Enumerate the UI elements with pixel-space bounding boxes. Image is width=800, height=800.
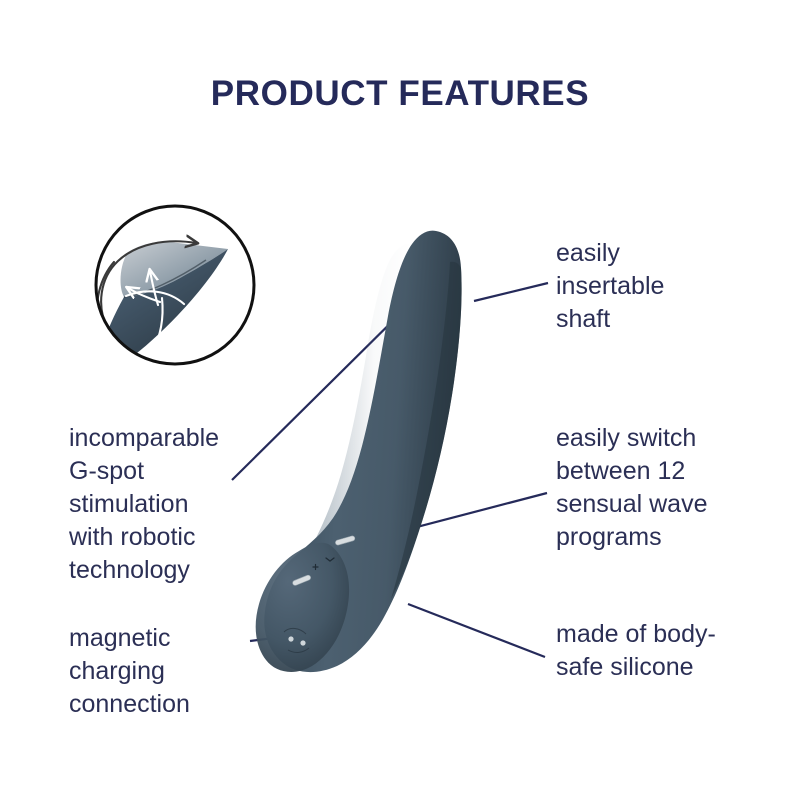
feature-label-magnetic-charging: magnetic charging connection [69,622,279,721]
feature-label-body-safe-silicone: made of body- safe silicone [556,618,781,684]
product-illustration [256,231,462,673]
feature-label-easily-insertable-shaft: easily insertable shaft [556,237,781,336]
feature-label-incomparable-g-spot: incomparable G-spot stimulation with rob… [69,422,279,587]
leader-line-body-safe-silicone [408,604,545,657]
feature-label-easily-switch-programs: easily switch between 12 sensual wave pr… [556,422,786,554]
leader-line-insertable-shaft [474,283,548,301]
robotic-tip-inset [90,200,262,372]
product-features-infographic: PRODUCT FEATURES [0,0,800,800]
